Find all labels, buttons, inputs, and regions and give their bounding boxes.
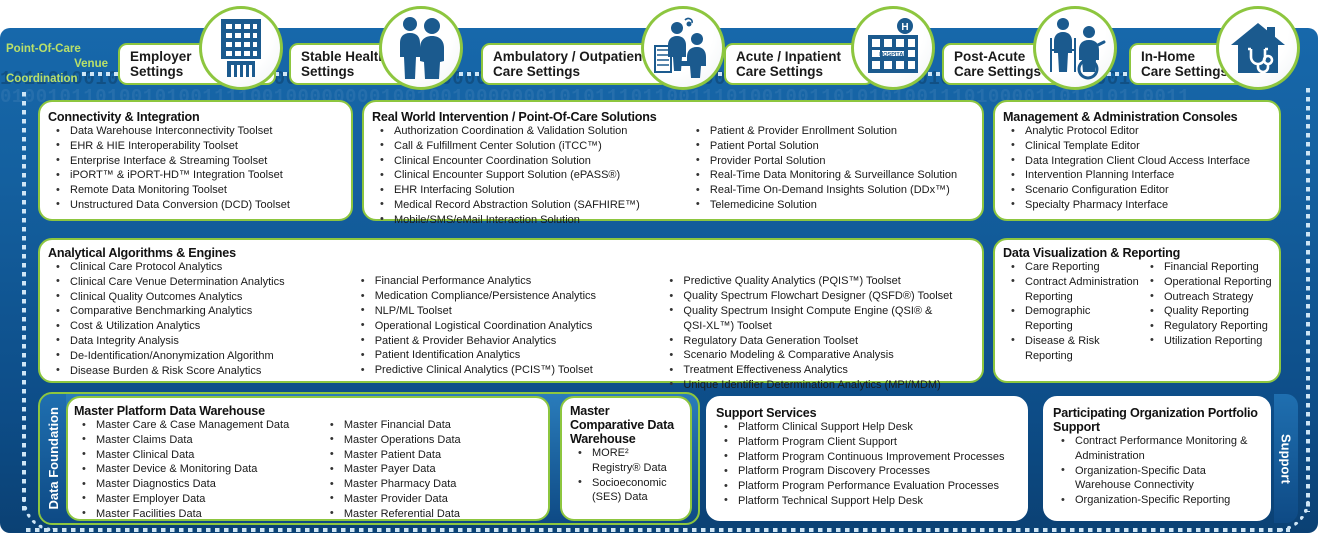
list-item: Comparative Benchmarking Analytics xyxy=(48,304,353,318)
list-item: Master Payer Data xyxy=(322,462,544,476)
list-item: Real-Time On-Demand Insights Solution (D… xyxy=(688,183,976,197)
card-dataviz-list-left: Care Reporting Contract Administration R… xyxy=(1003,260,1142,364)
list-item: Socioeconomic xyxy=(570,476,686,490)
card-analytical-title: Analytical Algorithms & Engines xyxy=(48,246,976,260)
list-item: Care Reporting xyxy=(1003,260,1142,274)
list-item: Platform Program Continuous Improvement … xyxy=(716,450,1022,464)
list-item: Master Operations Data xyxy=(322,433,544,447)
list-item: Unique Identifier Determination Analytic… xyxy=(661,378,976,392)
card-analytical-algorithms[interactable]: Analytical Algorithms & Engines Clinical… xyxy=(38,238,984,383)
venue-label-2-line1: Ambulatory / Outpatient xyxy=(493,49,647,65)
list-item: Telemedicine Solution xyxy=(688,198,976,212)
architecture-diagram: 1011010010100111100100000000100100100000… xyxy=(0,0,1318,538)
list-item: Mobile/SMS/eMail Interaction Solution xyxy=(372,213,688,227)
card-support-services-title: Support Services xyxy=(716,406,1022,420)
list-item: Financial Reporting xyxy=(1142,260,1275,274)
venue-label-4-line1: Post-Acute xyxy=(954,49,1041,65)
venue-label-3-line1: Acute / Inpatient xyxy=(736,49,841,65)
card-real-world-list-right: Patient & Provider Enrollment Solution P… xyxy=(688,124,976,228)
card-master-platform-data-warehouse[interactable]: Master Platform Data Warehouse Master Ca… xyxy=(66,396,550,521)
list-item: Master Diagnostics Data xyxy=(74,477,322,491)
list-item: Regulatory Reporting xyxy=(1142,319,1275,333)
list-item: NLP/ML Toolset xyxy=(353,304,662,318)
dotted-bottom-border xyxy=(26,528,1290,532)
card-analytical-list-col1: Clinical Care Protocol Analytics Clinica… xyxy=(48,260,353,393)
card-connectivity-list: Data Warehouse Interconnectivity Toolset… xyxy=(48,124,345,212)
list-item: Quality Spectrum Flowchart Designer (QSF… xyxy=(661,289,976,303)
card-management-administration[interactable]: Management & Administration Consoles Ana… xyxy=(993,100,1281,221)
card-master-comparative-title-l3: Warehouse xyxy=(570,432,686,446)
list-item: MORE² xyxy=(570,446,686,460)
list-item: Patient & Provider Enrollment Solution xyxy=(688,124,976,138)
list-item: Clinical Quality Outcomes Analytics xyxy=(48,290,353,304)
list-item: Provider Portal Solution xyxy=(688,154,976,168)
list-item: Platform Program Discovery Processes xyxy=(716,464,1022,478)
list-item: Organization-Specific Reporting xyxy=(1053,493,1265,507)
list-item: Master Provider Data xyxy=(322,492,544,506)
list-item: Master Patient Data xyxy=(322,448,544,462)
list-item: Master Employer Data xyxy=(74,492,322,506)
list-item: Patient & Provider Behavior Analytics xyxy=(353,334,662,348)
card-support-services[interactable]: Support Services Platform Clinical Suppo… xyxy=(706,396,1028,521)
card-master-comparative-list: MORE² Registry® Data Socioeconomic (SES)… xyxy=(570,446,686,505)
list-item: Platform Program Performance Evaluation … xyxy=(716,479,1022,493)
list-item: Clinical Encounter Support Solution (ePA… xyxy=(372,168,688,182)
list-item: Disease Burden & Risk Score Analytics xyxy=(48,364,353,378)
list-item: Patient Identification Analytics xyxy=(353,348,662,362)
list-item: EHR Interfacing Solution xyxy=(372,183,688,197)
list-item: Treatment Effectiveness Analytics xyxy=(661,363,976,377)
list-item: Clinical Encounter Coordination Solution xyxy=(372,154,688,168)
list-item: Platform Clinical Support Help Desk xyxy=(716,420,1022,434)
list-item-continuation: QSI-XL™) Toolset xyxy=(661,319,976,333)
card-master-comparative-title-l2: Comparative Data xyxy=(570,418,686,432)
list-item: Call & Fulfillment Center Solution (iTCC… xyxy=(372,139,688,153)
card-real-world-list-left: Authorization Coordination & Validation … xyxy=(372,124,688,228)
list-item-continuation: Administration xyxy=(1053,449,1265,463)
list-item: Authorization Coordination & Validation … xyxy=(372,124,688,138)
card-master-platform-list-left: Master Care & Case Management Data Maste… xyxy=(74,418,322,522)
venue-row: Employer Settings Sta xyxy=(0,0,1318,95)
card-participating-title-l2: Support xyxy=(1053,420,1265,434)
list-item: Platform Program Client Support xyxy=(716,435,1022,449)
list-item: Master Facilities Data xyxy=(74,507,322,521)
list-item: Predictive Clinical Analytics (PCIS™) To… xyxy=(353,363,662,377)
list-item: Master Pharmacy Data xyxy=(322,477,544,491)
home-stethoscope-icon xyxy=(1216,6,1300,90)
list-item: Platform Technical Support Help Desk xyxy=(716,494,1022,508)
list-item: De-Identification/Anonymization Algorith… xyxy=(48,349,353,363)
dotted-left-border xyxy=(22,92,26,512)
list-item: Demographic xyxy=(1003,304,1142,318)
list-item-continuation: Reporting xyxy=(1003,290,1142,304)
list-item: Scenario Modeling & Comparative Analysis xyxy=(661,348,976,362)
list-item: Analytic Protocol Editor xyxy=(1003,124,1273,138)
walker-wheelchair-icon xyxy=(1033,6,1117,90)
rail-data-foundation: Data Foundation xyxy=(40,394,66,523)
venue-label-0-line1: Employer xyxy=(130,49,192,65)
list-item: Master Device & Monitoring Data xyxy=(74,462,322,476)
venue-connector-5 xyxy=(1107,72,1131,76)
list-item-continuation: Registry® Data xyxy=(570,461,686,475)
list-item: Master Care & Case Management Data xyxy=(74,418,322,432)
list-item: Clinical Care Protocol Analytics xyxy=(48,260,353,274)
list-item: Remote Data Monitoring Toolset xyxy=(48,183,345,197)
list-item: Contract Administration xyxy=(1003,275,1142,289)
list-item: Master Financial Data xyxy=(322,418,544,432)
two-people-icon xyxy=(379,6,463,90)
list-item: Disease & Risk xyxy=(1003,334,1142,348)
clinic-visit-icon xyxy=(641,6,725,90)
list-item: Master Claims Data xyxy=(74,433,322,447)
svg-text:H: H xyxy=(901,22,908,33)
list-item: Regulatory Data Generation Toolset xyxy=(661,334,976,348)
list-item: Financial Performance Analytics xyxy=(353,274,662,288)
list-item: EHR & HIE Interoperability Toolset xyxy=(48,139,345,153)
card-master-comparative-title-l1: Master xyxy=(570,404,686,418)
card-dataviz-title: Data Visualization & Reporting xyxy=(1003,246,1275,260)
card-master-comparative-title: Master Comparative Data Warehouse xyxy=(570,404,686,446)
card-master-platform-list-right: Master Financial Data Master Operations … xyxy=(322,418,544,522)
list-item-continuation: Warehouse Connectivity xyxy=(1053,478,1265,492)
list-item-continuation: Reporting xyxy=(1003,319,1142,333)
rail-data-foundation-label: Data Foundation xyxy=(46,407,61,510)
list-item: Medication Compliance/Persistence Analyt… xyxy=(353,289,662,303)
list-item: Quality Spectrum Insight Compute Engine … xyxy=(661,304,976,318)
office-building-icon xyxy=(199,6,283,90)
card-dataviz-list-right: Financial Reporting Operational Reportin… xyxy=(1142,260,1275,364)
list-item: Clinical Care Venue Determination Analyt… xyxy=(48,275,353,289)
card-participating-title-l1: Participating Organization Portfolio xyxy=(1053,406,1265,420)
venue-connector-0 xyxy=(82,72,122,76)
card-connectivity-title: Connectivity & Integration xyxy=(48,110,345,124)
list-item: Cost & Utilization Analytics xyxy=(48,319,353,333)
rail-support: Support xyxy=(1274,394,1298,523)
list-item: Contract Performance Monitoring & xyxy=(1053,434,1265,448)
card-real-world-intervention[interactable]: Real World Intervention / Point-Of-Care … xyxy=(362,100,984,221)
list-item: Utilization Reporting xyxy=(1142,334,1275,348)
venue-label-2-line2: Care Settings xyxy=(493,64,647,80)
list-item: Data Warehouse Interconnectivity Toolset xyxy=(48,124,345,138)
list-item: Organization-Specific Data xyxy=(1053,464,1265,478)
venue-label-0-line2: Settings xyxy=(130,64,192,80)
card-participating-list: Contract Performance Monitoring & Admini… xyxy=(1053,434,1265,508)
list-item: Specialty Pharmacy Interface xyxy=(1003,198,1273,212)
card-management-list: Analytic Protocol Editor Clinical Templa… xyxy=(1003,124,1273,212)
card-support-services-list: Platform Clinical Support Help Desk Plat… xyxy=(716,420,1022,508)
list-item: Master Referential Data xyxy=(322,507,544,521)
list-item: iPORT™ & iPORT-HD™ Integration Toolset xyxy=(48,168,345,182)
card-management-title: Management & Administration Consoles xyxy=(1003,110,1273,124)
card-analytical-list-col2: Financial Performance Analytics Medicati… xyxy=(353,260,662,393)
rail-support-label: Support xyxy=(1279,434,1294,484)
list-item: Predictive Quality Analytics (PQIS™) Too… xyxy=(661,274,976,288)
hospital-icon: H HOSPITAL xyxy=(851,6,935,90)
list-item: Patient Portal Solution xyxy=(688,139,976,153)
list-item: Operational Logistical Coordination Anal… xyxy=(353,319,662,333)
card-participating-organization-portfolio-support[interactable]: Participating Organization Portfolio Sup… xyxy=(1043,396,1271,521)
card-connectivity-integration[interactable]: Connectivity & Integration Data Warehous… xyxy=(38,100,353,221)
list-item: Intervention Planning Interface xyxy=(1003,168,1273,182)
list-item: Scenario Configuration Editor xyxy=(1003,183,1273,197)
venue-label-1-line1: Stable Health xyxy=(301,49,387,65)
svg-text:HOSPITAL: HOSPITAL xyxy=(879,52,907,58)
list-item: Medical Record Abstraction Solution (SAF… xyxy=(372,198,688,212)
list-item: Data Integration Client Cloud Access Int… xyxy=(1003,154,1273,168)
card-analytical-list-col3: Predictive Quality Analytics (PQIS™) Too… xyxy=(661,260,976,393)
list-item: Enterprise Interface & Streaming Toolset xyxy=(48,154,345,168)
venue-label-3-line2: Care Settings xyxy=(736,64,841,80)
list-item: Real-Time Data Monitoring & Surveillance… xyxy=(688,168,976,182)
venue-label-4-line2: Care Settings xyxy=(954,64,1041,80)
list-item: Operational Reporting xyxy=(1142,275,1275,289)
list-item: Master Clinical Data xyxy=(74,448,322,462)
list-item: Quality Reporting xyxy=(1142,304,1275,318)
card-master-platform-title: Master Platform Data Warehouse xyxy=(74,404,544,418)
list-item-continuation: Reporting xyxy=(1003,349,1142,363)
list-item-continuation: (SES) Data xyxy=(570,490,686,504)
list-item: Data Integrity Analysis xyxy=(48,334,353,348)
card-real-world-title: Real World Intervention / Point-Of-Care … xyxy=(372,110,976,124)
card-master-comparative-data-warehouse[interactable]: Master Comparative Data Warehouse MORE² … xyxy=(560,396,692,521)
dotted-right-border xyxy=(1306,88,1310,512)
list-item: Outreach Strategy xyxy=(1142,290,1275,304)
list-item: Clinical Template Editor xyxy=(1003,139,1273,153)
venue-label-5-line2: Care Settings xyxy=(1141,64,1228,80)
venue-label-1-line2: Settings xyxy=(301,64,387,80)
venue-connector-2 xyxy=(459,72,483,76)
card-data-visualization-reporting[interactable]: Data Visualization & Reporting Care Repo… xyxy=(993,238,1281,383)
list-item: Unstructured Data Conversion (DCD) Tools… xyxy=(48,198,345,212)
card-participating-title: Participating Organization Portfolio Sup… xyxy=(1053,406,1265,434)
venue-label-5-line1: In-Home xyxy=(1141,49,1228,65)
